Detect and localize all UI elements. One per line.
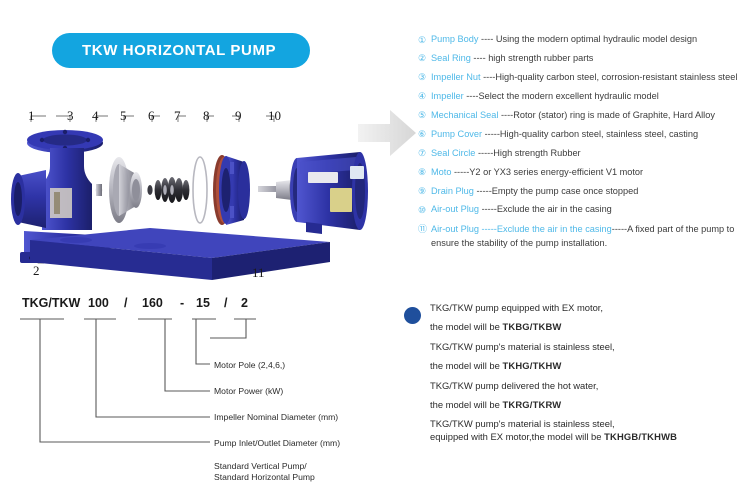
legend-separator: ---- <box>479 34 496 44</box>
legend-item-10: ⑩ Air-out Plug -----Exclude the air in t… <box>418 204 754 216</box>
callout-number: 2 <box>33 263 40 279</box>
pump-spec-sheet: TKW HORIZONTAL PUMP <box>0 0 756 500</box>
legend-separator: ----- <box>612 224 627 234</box>
legend-separator: ----- <box>451 167 469 177</box>
callout-number: 4 <box>92 108 99 124</box>
legend-description: high strength rubber parts <box>488 53 593 63</box>
parts-legend: ① Pump Body ---- Using the modern optima… <box>418 34 754 258</box>
legend-separator: ----- <box>475 148 493 158</box>
legend-part-name: Seal Ring <box>431 53 471 63</box>
callout-number: 11 <box>252 265 265 281</box>
variant-line: TKG/TKW pump's material is stainless ste… <box>430 341 754 352</box>
legend-part-name: Impeller Nut <box>431 72 481 82</box>
legend-separator: ---- <box>498 110 513 120</box>
label-motor-power: Motor Power (kW) <box>214 386 283 396</box>
callout-number: 9 <box>235 108 242 124</box>
bullet-dot-icon <box>404 307 421 324</box>
motor-graphic <box>290 152 368 234</box>
model-variants-block: TKG/TKW pump equipped with EX motor, the… <box>404 302 754 451</box>
label-pump-type-line1: Standard Vertical Pump/ <box>214 461 307 471</box>
pump-cover-graphic <box>213 155 250 225</box>
mechanical-seal-graphic <box>147 177 189 203</box>
designation-leader-lines <box>0 296 400 496</box>
legend-part-name: Air-out Plug -----Exclude the air in the… <box>431 224 612 234</box>
exploded-pump-diagram: 1 3 4 5 6 7 8 9 10 2 11 <box>0 100 400 285</box>
legend-description: Empty the pump case once stopped <box>492 186 639 196</box>
page-title-banner: TKW HORIZONTAL PUMP <box>52 33 310 68</box>
legend-description: A fixed part of the pump to <box>627 224 734 234</box>
legend-part-name: Pump Cover <box>431 129 482 139</box>
legend-description: Y2 or YX3 series energy-efficient V1 mot… <box>469 167 643 177</box>
motor-shaft-graphic <box>258 180 295 200</box>
legend-item-1: ① Pump Body ---- Using the modern optima… <box>418 34 754 46</box>
callout-number: 5 <box>120 108 127 124</box>
legend-description: Select the modern excellent hydraulic mo… <box>478 91 658 101</box>
legend-description: High-quality carbon steel, corrosion-res… <box>495 72 737 82</box>
legend-number-icon: ⑩ <box>418 204 431 216</box>
legend-separator: ----- <box>482 129 500 139</box>
callout-number: 7 <box>174 108 181 124</box>
callout-number: 6 <box>148 108 155 124</box>
legend-separator: ---- <box>471 53 488 63</box>
right-arrow-icon <box>356 102 418 164</box>
seal-circle-graphic <box>193 157 207 223</box>
label-motor-pole: Motor Pole (2,4,6,) <box>214 360 285 370</box>
legend-number-icon: ⑦ <box>418 148 431 160</box>
callout-number: 8 <box>203 108 210 124</box>
legend-item-7: ⑦ Seal Circle -----High strength Rubber <box>418 148 754 160</box>
callout-number: 3 <box>67 108 74 124</box>
legend-number-icon: ① <box>418 34 431 46</box>
legend-description: High-quality carbon steel, stainless ste… <box>500 129 698 139</box>
variant-line: TKG/TKW pump equipped with EX motor, <box>430 302 754 313</box>
legend-number-icon: ⑪ <box>418 223 431 235</box>
legend-description: Using the modern optimal hydraulic model… <box>496 34 697 44</box>
variant-line: the model will be TKRG/TKRW <box>430 399 754 410</box>
legend-description-continued: ensure the stability of the pump install… <box>431 238 607 248</box>
legend-number-icon: ③ <box>418 72 431 84</box>
variant-model-code: TKHG/TKHW <box>502 360 561 371</box>
legend-part-name: Seal Circle <box>431 148 475 158</box>
legend-item-4: ④ Impeller ----Select the modern excelle… <box>418 91 754 103</box>
variant-model-code: TKHGB/TKHWB <box>604 431 677 442</box>
legend-item-6: ⑥ Pump Cover -----High-quality carbon st… <box>418 129 754 141</box>
base-plate-graphic <box>30 228 330 280</box>
legend-description: High strength Rubber <box>493 148 580 158</box>
impeller-nut-graphic <box>96 184 102 196</box>
legend-separator: ----- <box>474 186 492 196</box>
pump-illustration <box>0 100 400 285</box>
legend-number-icon: ⑧ <box>418 167 431 179</box>
variant-line: TKG/TKW pump's material is stainless ste… <box>430 418 754 429</box>
variant-line: TKG/TKW pump delivered the hot water, <box>430 380 754 391</box>
legend-part-name: Mechanical Seal <box>431 110 498 120</box>
callout-number: 10 <box>268 108 281 124</box>
legend-part-name: Drain Plug <box>431 186 474 196</box>
legend-description: Rotor (stator) ring is made of Graphite,… <box>513 110 715 120</box>
legend-item-2: ② Seal Ring ---- high strength rubber pa… <box>418 53 754 65</box>
label-impeller-diameter: Impeller Nominal Diameter (mm) <box>214 412 338 422</box>
model-designation-diagram: TKG/TKW 100 / 160 - 15 / 2 Motor <box>0 296 400 496</box>
legend-item-3: ③ Impeller Nut ----High-quality carbon s… <box>418 72 754 84</box>
legend-part-name: Impeller <box>431 91 464 101</box>
callout-number: 1 <box>28 108 35 124</box>
legend-number-icon: ② <box>418 53 431 65</box>
legend-separator: ---- <box>481 72 496 82</box>
label-pump-type-line2: Standard Horizontal Pump <box>214 472 315 482</box>
legend-part-name: Pump Body <box>431 34 479 44</box>
legend-part-name: Air-out Plug <box>431 204 479 214</box>
impeller-graphic <box>109 157 142 223</box>
legend-number-icon: ⑥ <box>418 129 431 141</box>
variant-model-code: TKRG/TKRW <box>502 399 561 410</box>
legend-number-icon: ⑤ <box>418 110 431 122</box>
label-inlet-outlet-diameter: Pump Inlet/Outlet Diameter (mm) <box>214 438 340 448</box>
legend-description: Exclude the air in the casing <box>497 204 612 214</box>
legend-number-icon: ④ <box>418 91 431 103</box>
variant-model-code: TKBG/TKBW <box>502 321 561 332</box>
legend-separator: ---- <box>464 91 479 101</box>
variant-line: the model will be TKBG/TKBW <box>430 321 754 332</box>
legend-part-name: Moto <box>431 167 451 177</box>
variant-line: the model will be TKHG/TKHW <box>430 360 754 371</box>
legend-number-icon: ⑨ <box>418 186 431 198</box>
legend-item-11: ⑪ Air-out Plug -----Exclude the air in t… <box>418 223 754 251</box>
legend-item-9: ⑨ Drain Plug -----Empty the pump case on… <box>418 186 754 198</box>
page-title: TKW HORIZONTAL PUMP <box>82 42 276 59</box>
legend-separator: ----- <box>479 204 497 214</box>
legend-item-5: ⑤ Mechanical Seal ----Rotor (stator) rin… <box>418 110 754 122</box>
legend-item-8: ⑧ Moto -----Y2 or YX3 series energy-effi… <box>418 167 754 179</box>
variant-line: equipped with EX motor,the model will be… <box>430 431 754 442</box>
